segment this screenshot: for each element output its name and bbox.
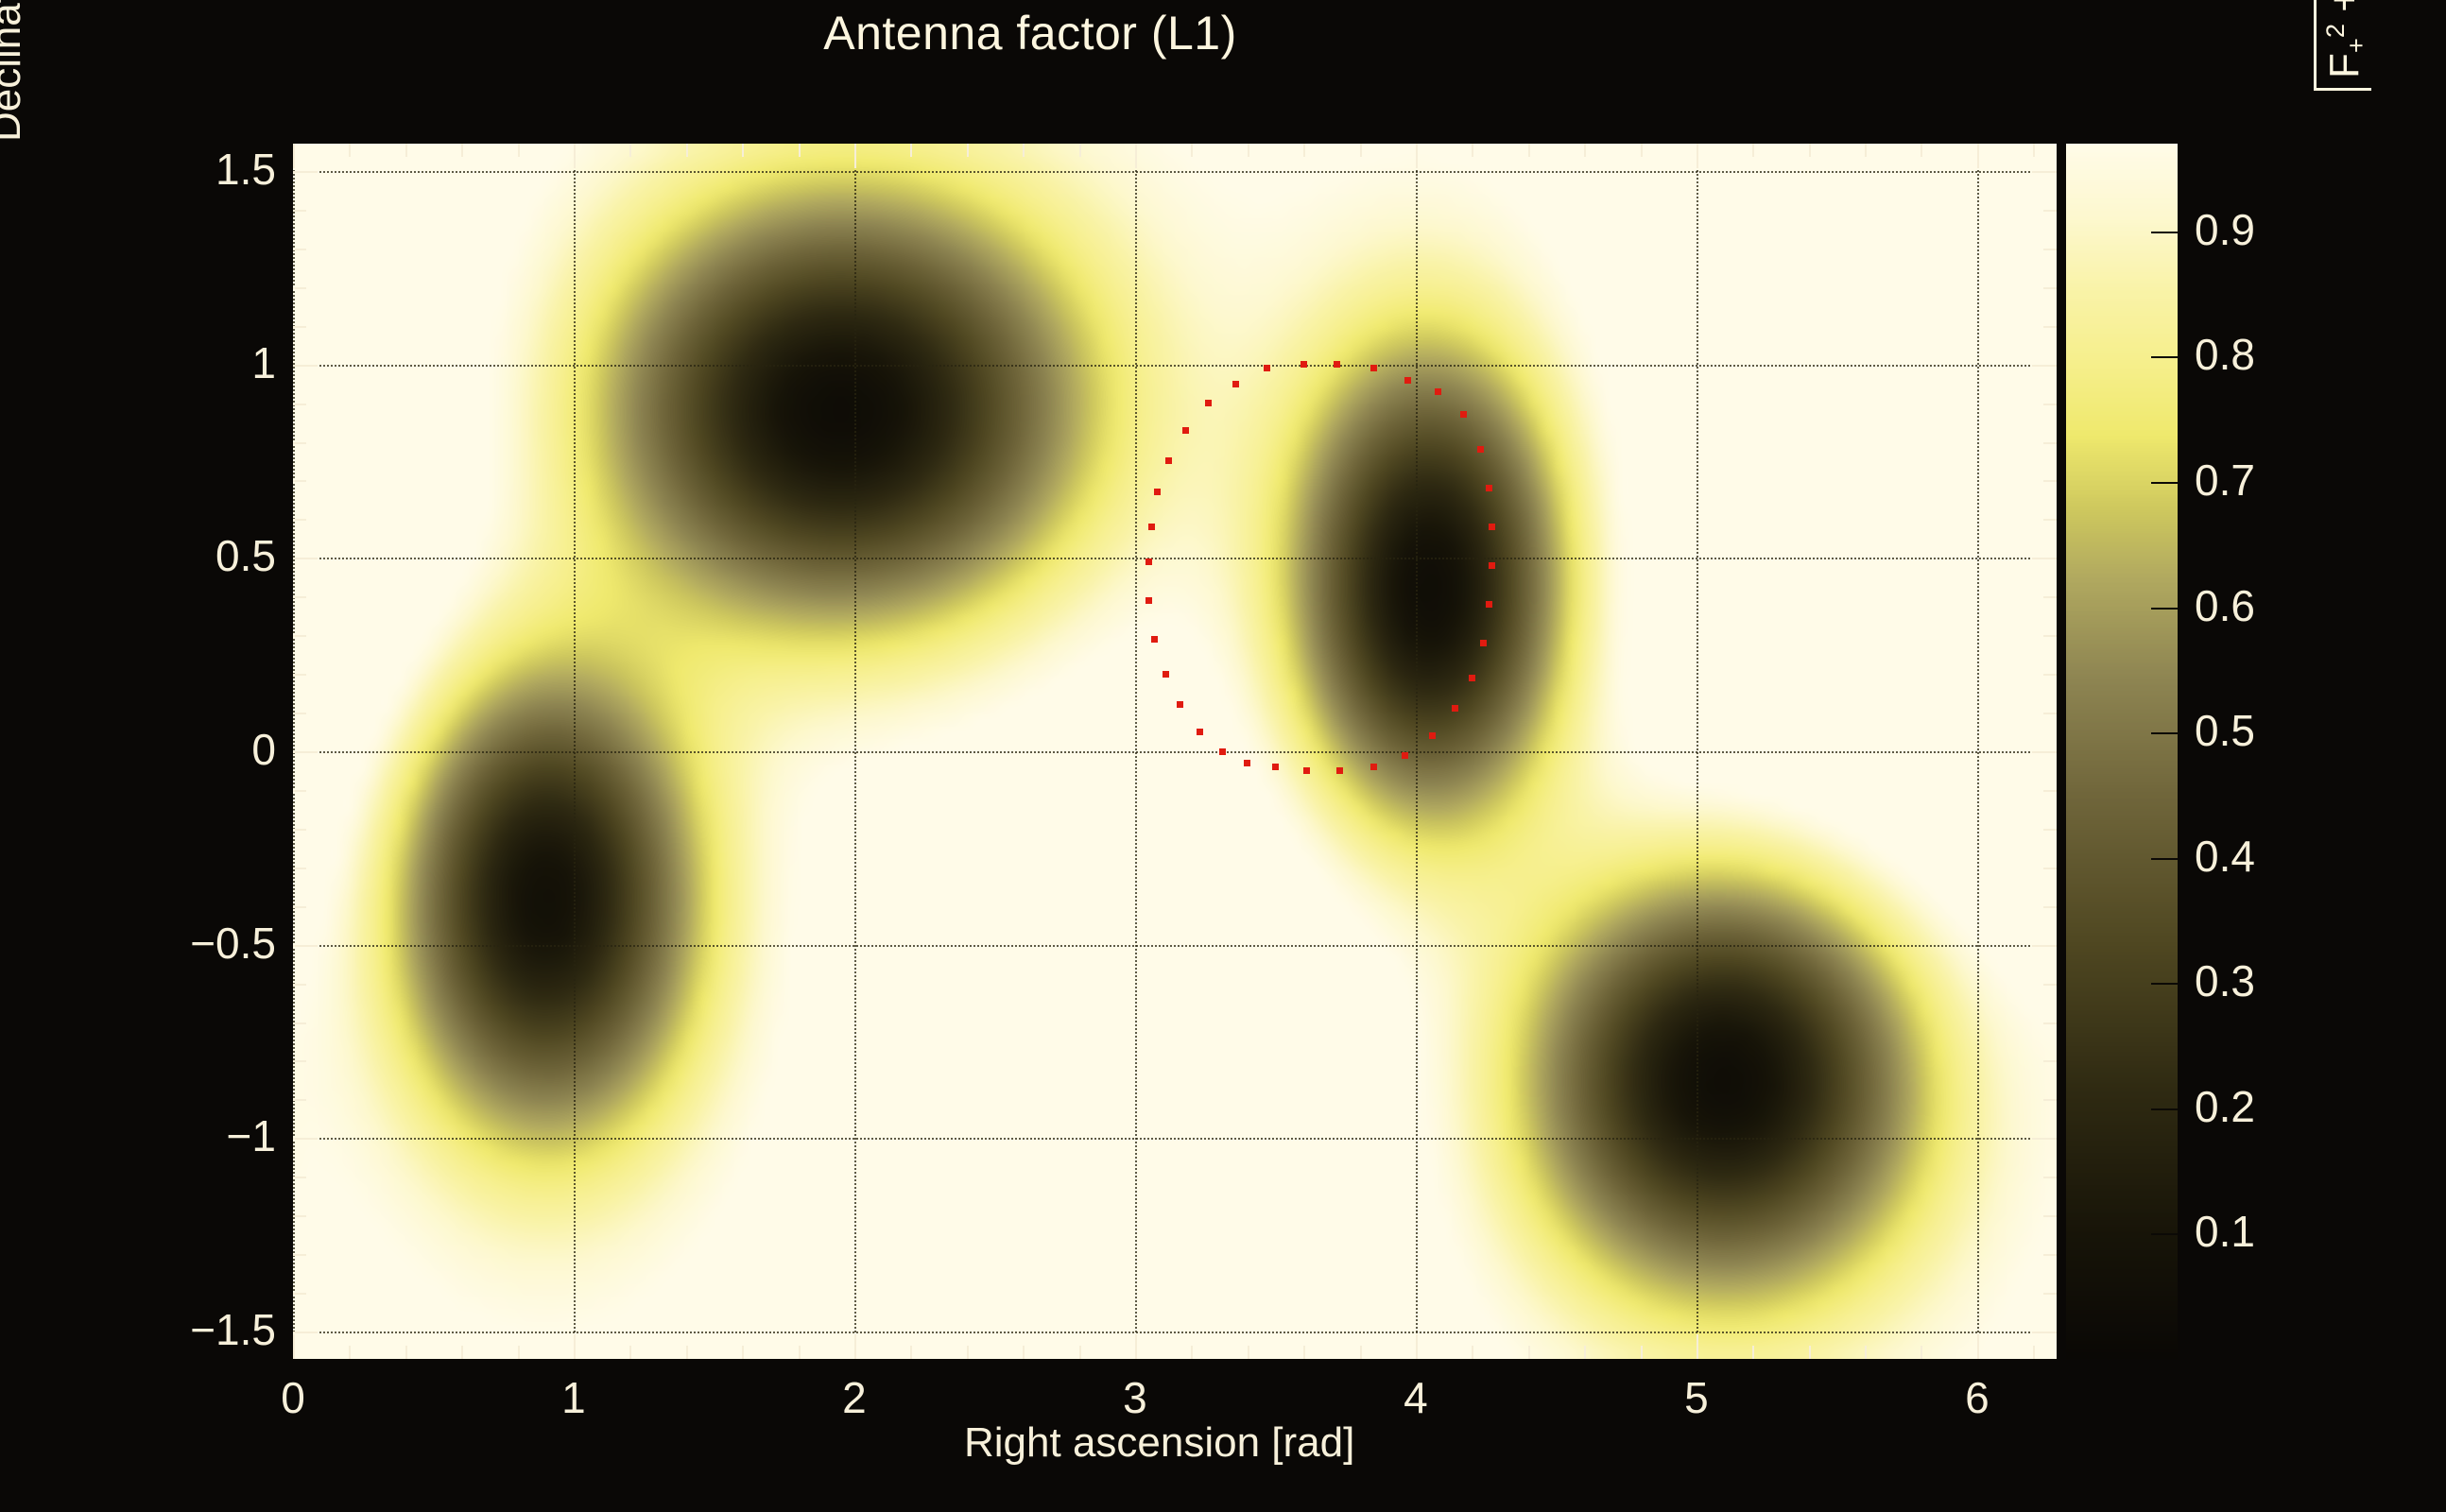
y-axis-tick [2043, 674, 2057, 676]
x-tick-label: 4 [1359, 1372, 1473, 1423]
x-axis-tick [1416, 144, 1418, 168]
x-axis-tick [1191, 144, 1193, 157]
x-tick-label: 0 [236, 1372, 350, 1423]
x-tick-label: 2 [798, 1372, 911, 1423]
x-axis-tick [742, 1346, 744, 1359]
y-axis-tick [293, 984, 306, 986]
colorbar-tick [2151, 608, 2178, 610]
colorbar [2066, 144, 2178, 1359]
y-axis-title: Declination [rad] [0, 0, 30, 142]
contour-point [1370, 365, 1377, 371]
y-axis-tick [2043, 210, 2057, 212]
y-axis-tick [2032, 558, 2057, 559]
f-plus-subscript: + [2341, 38, 2370, 53]
x-axis-tick [405, 1346, 407, 1359]
y-axis-tick [2043, 906, 2057, 908]
x-axis-tick [405, 144, 407, 157]
x-axis-tick [1528, 144, 1530, 157]
y-axis-tick [2043, 713, 2057, 714]
y-axis-tick [293, 442, 306, 444]
y-axis-tick [2032, 171, 2057, 173]
f-plus-exponent: 2 [2320, 24, 2350, 38]
x-axis-tick [1303, 1346, 1305, 1359]
x-axis-tick [1809, 1346, 1811, 1359]
y-axis-tick [293, 945, 318, 947]
x-axis-tick [2033, 1346, 2035, 1359]
y-axis-tick [2032, 751, 2057, 753]
contour-point [1486, 485, 1492, 491]
colorbar-tick [2151, 983, 2178, 985]
y-tick-label: −1 [134, 1110, 276, 1161]
x-axis-tick [629, 144, 631, 157]
y-axis-tick [293, 829, 306, 831]
x-axis-tick [518, 1346, 520, 1359]
contour-point [1404, 377, 1411, 384]
x-axis-tick [686, 144, 688, 157]
y-tick-label: 1.5 [134, 144, 276, 195]
x-axis-tick [910, 1346, 912, 1359]
y-axis-tick [2043, 404, 2057, 405]
x-axis-tick [910, 144, 912, 157]
x-axis-tick [1641, 1346, 1643, 1359]
y-axis-tick [293, 906, 306, 908]
x-axis-tick [1697, 144, 1698, 168]
contour-point [1402, 752, 1408, 759]
y-axis-tick [293, 868, 306, 869]
y-axis-tick [2032, 1332, 2057, 1333]
contour-point [1370, 764, 1377, 770]
x-axis-tick [349, 1346, 351, 1359]
y-axis-tick [2043, 1254, 2057, 1256]
x-axis-tick [293, 1334, 295, 1359]
x-axis-tick [1865, 1346, 1867, 1359]
y-axis-tick [2043, 1022, 2057, 1024]
y-axis-tick [2043, 829, 2057, 831]
x-axis-tick [1752, 144, 1754, 157]
contour-point [1151, 636, 1158, 643]
contour-point [1489, 562, 1495, 569]
x-axis-tick [1135, 144, 1137, 168]
x-axis-tick [967, 1346, 969, 1359]
y-axis-tick [2043, 1099, 2057, 1101]
contour-point [1435, 388, 1441, 395]
contour-point [1244, 760, 1250, 766]
contour-point [1477, 446, 1484, 453]
x-axis-tick [799, 1346, 801, 1359]
y-tick-label: 0 [134, 724, 276, 775]
colorbar-tick-label: 0.7 [2195, 455, 2255, 506]
y-axis-tick [293, 1060, 306, 1062]
y-axis-tick [2043, 1215, 2057, 1217]
x-axis-tick [1079, 1346, 1081, 1359]
y-axis-tick [293, 1332, 318, 1333]
x-axis-tick [799, 144, 801, 157]
y-axis-tick [2043, 480, 2057, 482]
heatmap-plot-area [293, 144, 2057, 1359]
x-axis-tick [518, 144, 520, 157]
y-axis-tick [293, 1254, 306, 1256]
contour-point [1145, 558, 1152, 565]
y-axis-tick [2032, 945, 2057, 947]
y-axis-tick [293, 1022, 306, 1024]
contour-point [1301, 361, 1307, 368]
y-axis-tick [293, 210, 306, 212]
x-axis-tick [1191, 1346, 1193, 1359]
page-title: Antenna factor (L1) [0, 6, 2060, 60]
contour-point [1452, 705, 1458, 712]
contour-point [1197, 729, 1203, 735]
contour-point [1429, 732, 1436, 739]
y-axis-tick [293, 1177, 306, 1178]
contour-point [1205, 400, 1212, 406]
y-tick-label: 1 [134, 337, 276, 388]
colorbar-tick-label: 0.4 [2195, 831, 2255, 882]
colorbar-tick [2151, 732, 2178, 734]
y-axis-tick [293, 1138, 318, 1140]
y-axis-tick [2043, 519, 2057, 521]
y-axis-tick [2043, 326, 2057, 328]
y-axis-tick [2043, 1060, 2057, 1062]
colorbar-tick [2151, 1108, 2178, 1110]
y-axis-tick [293, 674, 306, 676]
contour-point [1489, 524, 1495, 530]
x-tick-label: 5 [1640, 1372, 1753, 1423]
y-axis-tick [293, 596, 306, 598]
x-axis-tick [854, 1334, 856, 1359]
x-axis-tick [1023, 1346, 1025, 1359]
contour-point [1303, 767, 1310, 774]
y-axis-tick [2043, 287, 2057, 289]
colorbar-tick-label: 0.6 [2195, 580, 2255, 631]
x-tick-label: 6 [1921, 1372, 2034, 1423]
heatmap-image [293, 144, 2057, 1359]
x-axis-tick [1584, 1346, 1586, 1359]
colorbar-tick-label: 0.1 [2195, 1206, 2255, 1257]
x-axis-tick [1528, 1346, 1530, 1359]
x-axis-tick [461, 1346, 463, 1359]
x-axis-tick [854, 144, 856, 168]
x-axis-tick [1865, 144, 1867, 157]
contour-point [1272, 764, 1279, 770]
x-axis-tick [349, 144, 351, 157]
y-axis-tick [2043, 1177, 2057, 1178]
x-axis-tick [1752, 1346, 1754, 1359]
y-axis-tick [293, 519, 306, 521]
colorbar-tick-label: 0.8 [2195, 329, 2255, 380]
y-axis-tick [293, 1293, 306, 1295]
colorbar-tick [2151, 858, 2178, 860]
y-axis-tick [293, 171, 318, 173]
colorbar-tick-label: 0.5 [2195, 705, 2255, 756]
contour-point [1154, 489, 1161, 495]
x-axis-tick [1809, 144, 1811, 157]
x-axis-tick [1584, 144, 1586, 157]
y-axis-tick [293, 558, 318, 559]
x-axis-tick [1697, 1334, 1698, 1359]
y-axis-tick [293, 1099, 306, 1101]
y-axis-tick [293, 790, 306, 792]
colorbar-tick [2151, 232, 2178, 233]
x-axis-tick [1921, 144, 1922, 157]
contour-point [1165, 457, 1172, 464]
contour-point [1336, 767, 1343, 774]
x-axis-tick [742, 144, 744, 157]
y-axis-tick [293, 365, 318, 367]
x-axis-tick [1977, 1334, 1979, 1359]
x-axis-title: Right ascension [rad] [964, 1419, 1354, 1467]
y-axis-tick [2043, 790, 2057, 792]
x-axis-tick [1248, 144, 1249, 157]
x-axis-tick [461, 144, 463, 157]
colorbar-tick-label: 0.9 [2195, 204, 2255, 255]
y-axis-tick [293, 751, 318, 753]
x-axis-tick [1921, 1346, 1922, 1359]
x-tick-label: 1 [517, 1372, 630, 1423]
y-axis-tick [2043, 1293, 2057, 1295]
contour-point [1480, 640, 1487, 646]
y-axis-tick [2043, 635, 2057, 637]
x-axis-tick [967, 144, 969, 157]
colorbar-title: F+2 + Fx2 [2314, 0, 2371, 91]
y-axis-tick [2043, 249, 2057, 250]
figure-canvas: Antenna factor (L1) 0123456 −1.5−1−0.500… [0, 0, 2446, 1512]
x-axis-tick [1023, 144, 1025, 157]
x-axis-tick [1641, 144, 1643, 157]
x-axis-tick [2033, 144, 2035, 157]
x-axis-tick [1360, 1346, 1362, 1359]
y-axis-tick [2043, 984, 2057, 986]
contour-point [1145, 597, 1152, 604]
y-axis-tick [2043, 868, 2057, 869]
colorbar-tick-label: 0.2 [2195, 1081, 2255, 1132]
x-axis-tick [686, 1346, 688, 1359]
contour-point [1219, 748, 1226, 755]
contour-point [1469, 675, 1475, 681]
x-tick-label: 3 [1078, 1372, 1192, 1423]
x-axis-tick [1248, 1346, 1249, 1359]
x-axis-tick [1360, 144, 1362, 157]
y-axis-tick [293, 713, 306, 714]
colorbar-tick [2151, 482, 2178, 484]
x-axis-tick [1303, 144, 1305, 157]
x-axis-tick [1472, 1346, 1473, 1359]
y-axis-tick [2032, 1138, 2057, 1140]
x-axis-tick [1472, 144, 1473, 157]
contour-point [1486, 601, 1492, 608]
y-axis-tick [2043, 596, 2057, 598]
contour-point [1460, 411, 1467, 418]
y-axis-tick [293, 249, 306, 250]
y-axis-tick [2043, 442, 2057, 444]
contour-point [1163, 671, 1169, 678]
contour-point [1232, 381, 1239, 387]
x-axis-tick [1416, 1334, 1418, 1359]
contour-point [1148, 524, 1155, 530]
contour-point [1182, 427, 1189, 434]
contour-point [1177, 701, 1183, 708]
x-axis-tick [629, 1346, 631, 1359]
y-axis-tick [293, 635, 306, 637]
y-axis-tick [2032, 365, 2057, 367]
x-axis-tick [574, 1334, 576, 1359]
x-axis-tick [574, 144, 576, 168]
y-tick-label: −0.5 [134, 918, 276, 969]
y-axis-tick [293, 1215, 306, 1217]
y-tick-label: 0.5 [134, 530, 276, 581]
x-axis-tick [293, 144, 295, 168]
y-axis-tick [293, 480, 306, 482]
contour-point [1264, 365, 1270, 371]
y-axis-tick [293, 326, 306, 328]
radical-sign: F+2 + Fx2 [2314, 0, 2371, 91]
x-axis-tick [1135, 1334, 1137, 1359]
colorbar-tick-label: 0.3 [2195, 955, 2255, 1006]
x-axis-tick [1079, 144, 1081, 157]
x-axis-tick [1977, 144, 1979, 168]
contour-point [1334, 361, 1340, 368]
colorbar-tick [2151, 1233, 2178, 1235]
y-tick-label: −1.5 [134, 1304, 276, 1355]
y-axis-tick [293, 287, 306, 289]
y-axis-tick [293, 404, 306, 405]
colorbar-tick [2151, 356, 2178, 358]
